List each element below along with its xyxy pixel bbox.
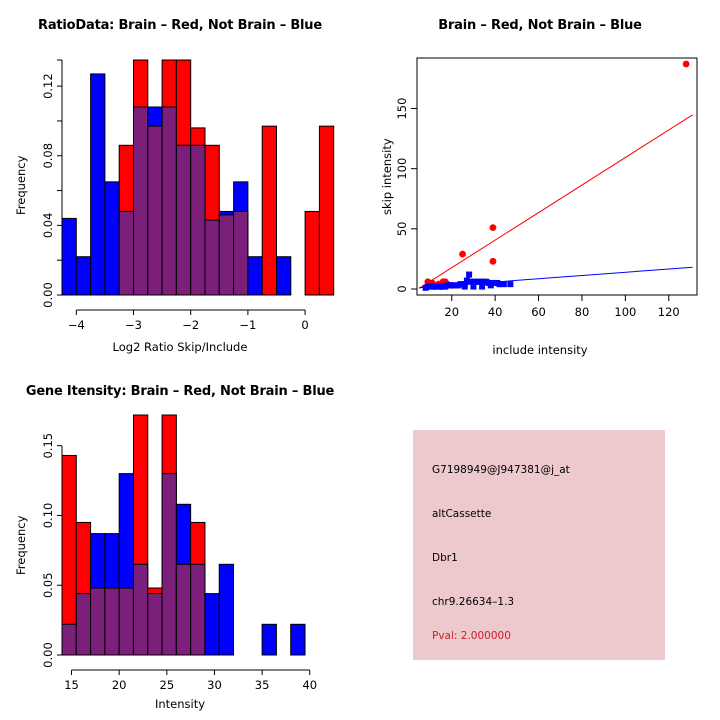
histogram-bar-overlap (133, 564, 147, 655)
gene-histogram-xlabel: Intensity (0, 697, 360, 711)
probe-id-text: G7198949@J947381@j_at (432, 464, 570, 476)
ratio-histogram-title: RatioData: Brain – Red, Not Brain – Blue (0, 18, 360, 33)
histogram-bar-overlap (91, 588, 105, 655)
histogram-bar-overlap (191, 145, 205, 295)
x-axis-tick-label: 60 (531, 305, 546, 319)
gene-histogram-ylabel: Frequency (14, 516, 28, 575)
histogram-bar-overlap (176, 145, 190, 295)
x-axis-tick-label: −2 (182, 318, 199, 332)
x-axis-tick-label: 20 (444, 305, 459, 319)
pval-text: Pval: 2.000000 (432, 630, 511, 642)
histogram-bar (277, 257, 291, 295)
scatter-point (459, 251, 466, 258)
plot-frame (417, 58, 697, 295)
x-axis-tick-label: 0 (301, 318, 308, 332)
x-axis-tick-label: 35 (255, 678, 270, 692)
scatter-point (501, 281, 507, 287)
x-axis-tick-label: 40 (302, 678, 317, 692)
histogram-bar-overlap (119, 211, 133, 295)
histogram-bar (76, 257, 90, 295)
y-axis-tick-label: 100 (395, 158, 409, 180)
x-axis-tick-label: −4 (68, 318, 85, 332)
histogram-bar-overlap (176, 564, 190, 655)
y-axis-tick-label: 50 (395, 222, 409, 237)
x-axis-tick-label: 80 (575, 305, 590, 319)
y-axis-tick-label: 0.12 (41, 73, 55, 99)
histogram-bar-overlap (119, 588, 133, 655)
y-axis-tick-label: 0.08 (41, 143, 55, 169)
histogram-bar-overlap (148, 126, 162, 295)
scatter-point (462, 284, 468, 290)
regression-line (419, 115, 692, 289)
x-axis-tick-label: 30 (207, 678, 222, 692)
gene-histogram-plot: 0.000.050.100.15152025303540 (0, 360, 360, 720)
histogram-bar-overlap (205, 220, 219, 295)
histogram-bar-overlap (234, 211, 248, 295)
histogram-bar-overlap (162, 474, 176, 655)
y-axis-tick-label: 0 (395, 285, 409, 292)
scatter-point (490, 258, 497, 265)
histogram-bar (105, 182, 119, 295)
histogram-bar-overlap (191, 564, 205, 655)
histogram-bar (91, 74, 105, 295)
x-axis-tick-label: 100 (614, 305, 636, 319)
histogram-bar-overlap (105, 588, 119, 655)
histogram-bar-overlap (148, 594, 162, 655)
scatter-plot: 20406080100120050100150 (360, 0, 720, 360)
histogram-bar-overlap (162, 107, 176, 295)
ratio-histogram-ylabel: Frequency (14, 156, 28, 215)
histogram-bar (262, 624, 276, 655)
scatter-title: Brain – Red, Not Brain – Blue (360, 18, 720, 33)
x-axis-tick-label: 120 (658, 305, 680, 319)
scatter-point (683, 61, 690, 68)
scatter-point (423, 285, 429, 291)
panel-intensity-scatter: Brain – Red, Not Brain – Blue 2040608010… (360, 0, 720, 360)
scatter-point (507, 281, 513, 287)
y-axis-tick-label: 0.00 (41, 282, 55, 308)
scatter-point (490, 224, 497, 231)
histogram-bar (305, 211, 319, 295)
gene-symbol-text: Dbr1 (432, 552, 458, 564)
locus-text: chr9.26634–1.3 (432, 596, 514, 608)
histogram-bar (262, 126, 276, 295)
x-axis-tick-label: −1 (239, 318, 256, 332)
y-axis-tick-label: 0.05 (41, 572, 55, 598)
scatter-point (488, 282, 494, 288)
histogram-bar-overlap (76, 594, 90, 655)
scatter-xlabel: include intensity (360, 343, 720, 357)
histogram-bar (319, 126, 333, 295)
histogram-bar-overlap (219, 215, 233, 295)
x-axis-tick-label: 25 (160, 678, 175, 692)
ratio-histogram-xlabel: Log2 Ratio Skip/Include (0, 340, 360, 354)
y-axis-tick-label: 0.04 (41, 213, 55, 239)
histogram-bar-overlap (134, 107, 148, 295)
scatter-point (466, 272, 472, 278)
y-axis-tick-label: 0.10 (41, 503, 55, 529)
x-axis-tick-label: 20 (112, 678, 127, 692)
histogram-bar (248, 257, 262, 295)
ratio-histogram-plot: 0.000.040.080.12−4−3−2−10 (0, 0, 360, 360)
scatter-point (479, 284, 485, 290)
histogram-bar (62, 218, 76, 295)
panel-ratio-histogram: RatioData: Brain – Red, Not Brain – Blue… (0, 0, 360, 360)
panel-annotation-info: G7198949@J947381@j_at altCassette Dbr1 c… (360, 360, 720, 720)
x-axis-tick-label: −3 (125, 318, 142, 332)
y-axis-tick-label: 150 (395, 98, 409, 120)
event-type-text: altCassette (432, 508, 491, 520)
panel-gene-histogram: Gene Itensity: Brain – Red, Not Brain – … (0, 360, 360, 720)
scatter-ylabel: skip intensity (380, 138, 394, 215)
histogram-bar (205, 594, 219, 655)
y-axis-tick-label: 0.00 (41, 642, 55, 668)
gene-histogram-title: Gene Itensity: Brain – Red, Not Brain – … (0, 384, 360, 399)
x-axis-tick-label: 40 (488, 305, 503, 319)
histogram-bar (219, 564, 233, 655)
x-axis-tick-label: 15 (64, 678, 79, 692)
scatter-point (470, 284, 476, 290)
figure-canvas: RatioData: Brain – Red, Not Brain – Blue… (0, 0, 720, 720)
histogram-bar (291, 624, 305, 655)
histogram-bar-overlap (62, 624, 76, 655)
y-axis-tick-label: 0.15 (41, 433, 55, 459)
